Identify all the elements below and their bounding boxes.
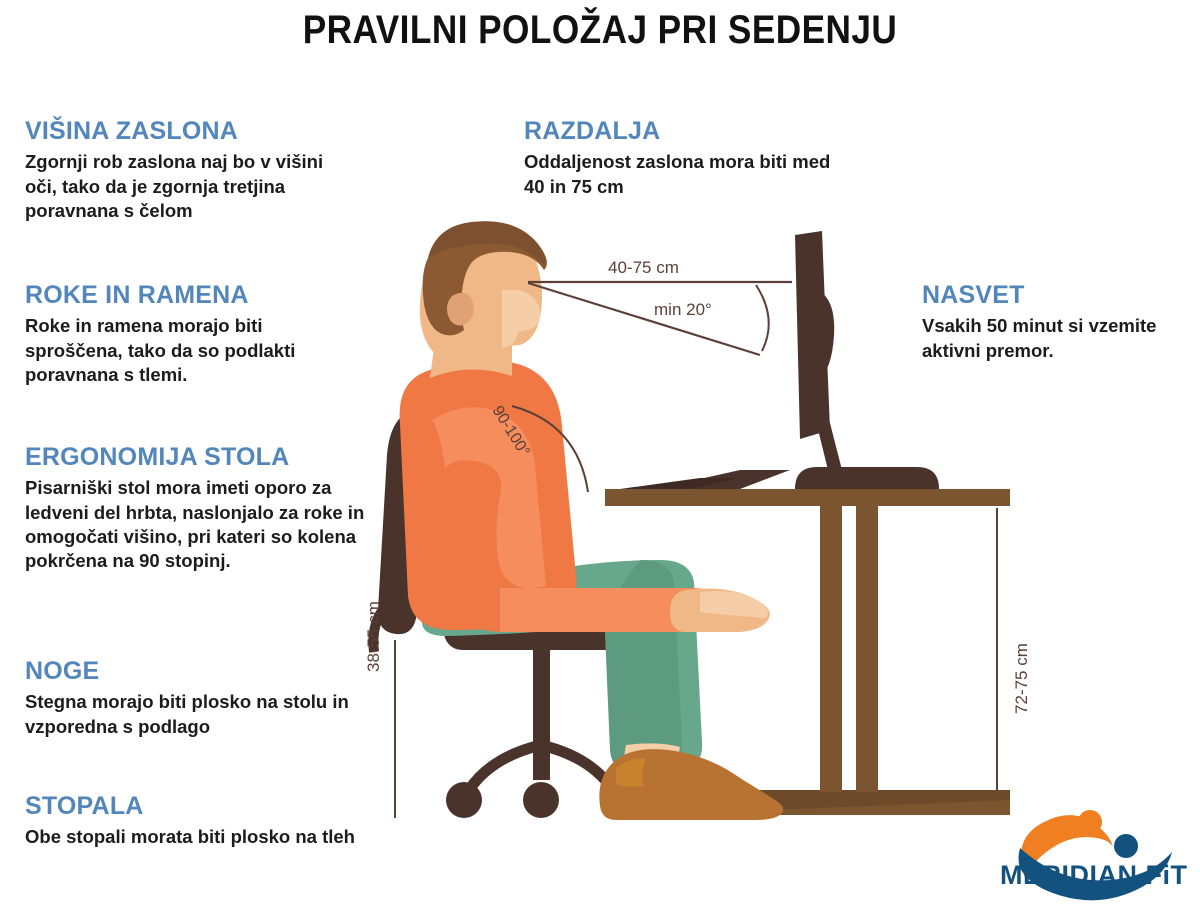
- dimension-label-gaze-angle: min 20°: [654, 300, 712, 320]
- section-ergonomija-stola: ERGONOMIJA STOLA Pisarniški stol mora im…: [25, 444, 370, 574]
- keyboard-icon: [620, 470, 790, 489]
- person-hand-icon: [670, 589, 770, 633]
- section-body: Vsakih 50 minut si vzemite aktivni premo…: [922, 314, 1192, 363]
- logo-wordmark: MERIDIAN FiT: [1000, 860, 1188, 891]
- section-body: Obe stopali morata biti plosko na tleh: [25, 825, 355, 849]
- section-heading: NOGE: [25, 658, 355, 684]
- dimension-label-screen-distance: 40-75 cm: [608, 258, 679, 278]
- section-heading: VIŠINA ZASLONA: [25, 118, 355, 144]
- section-noge: NOGE Stegna morajo biti plosko na stolu …: [25, 658, 355, 739]
- section-heading: NASVET: [922, 282, 1192, 308]
- section-heading: ERGONOMIJA STOLA: [25, 444, 370, 470]
- shoe-icon: [599, 749, 783, 820]
- desk-legs-icon: [820, 500, 878, 792]
- monitor-icon: [795, 231, 939, 489]
- section-body: Stegna morajo biti plosko na stolu in vz…: [25, 690, 355, 739]
- section-body: Zgornji rob zaslona naj bo v višini oči,…: [25, 150, 355, 223]
- section-body: Roke in ramena morajo biti sproščena, ta…: [25, 314, 355, 387]
- logo-wordmark-text: MERIDIAN FiT: [1000, 860, 1188, 890]
- section-heading: RAZDALJA: [524, 118, 854, 144]
- section-body: Oddaljenost zaslona mora biti med 40 in …: [524, 150, 854, 199]
- dimension-label-seat-height: 38-55 cm: [364, 601, 384, 672]
- section-heading: STOPALA: [25, 793, 355, 819]
- section-heading: ROKE IN RAMENA: [25, 282, 355, 308]
- desk-top-icon: [605, 489, 1010, 506]
- section-roke-in-ramena: ROKE IN RAMENA Roke in ramena morajo bit…: [25, 282, 355, 387]
- section-stopala: STOPALA Obe stopali morata biti plosko n…: [25, 793, 355, 850]
- section-nasvet: NASVET Vsakih 50 minut si vzemite aktivn…: [922, 282, 1192, 363]
- infographic-poster: PRAVILNI POLOŽAJ PRI SEDENJU: [0, 0, 1200, 912]
- person-head-icon: [420, 221, 547, 367]
- section-razdalja: RAZDALJA Oddaljenost zaslona mora biti m…: [524, 118, 854, 199]
- section-visina-zaslona: VIŠINA ZASLONA Zgornji rob zaslona naj b…: [25, 118, 355, 223]
- dimension-label-desk-height: 72-75 cm: [1012, 643, 1032, 714]
- section-body: Pisarniški stol mora imeti oporo za ledv…: [25, 476, 370, 574]
